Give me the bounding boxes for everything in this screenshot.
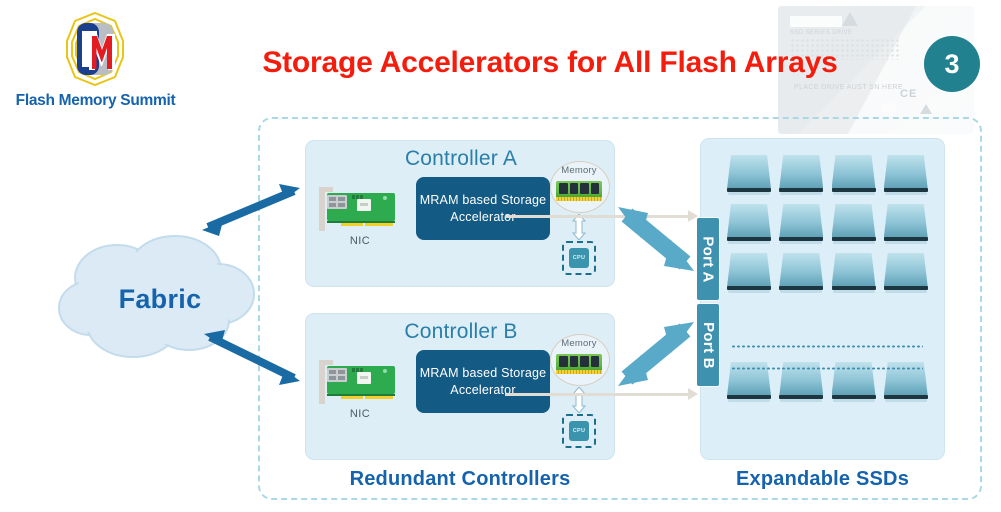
ssd-enclosure [700,138,945,460]
data-path-arrowhead-b [688,388,698,400]
mram-storage-accelerator-b: MRAM based Storage Accelerator [416,350,550,413]
ssd-ellipsis-row [731,367,923,370]
page-number-badge: 3 [924,36,980,92]
slide-canvas: SSD SERIES DRIVE PLACE DRIVE AUST SN HER… [0,0,1001,512]
ssd-drive [884,253,927,293]
memory-label-b: Memory [550,338,608,349]
ssd-drive [832,204,875,244]
cpu-chip-icon-b: CPU [562,414,596,448]
caption-redundant-controllers: Redundant Controllers [300,468,620,491]
port-b-label: Port B [700,322,717,369]
cpu-label-b: CPU [569,421,589,441]
fms-logo-icon [56,10,134,88]
cpu-label-a: CPU [569,248,589,268]
ssd-row [727,204,927,244]
ssd-drive [779,155,822,195]
ssd-drive [884,204,927,244]
memory-label-a: Memory [550,165,608,176]
port-b-tab: Port B [697,304,719,386]
ssd-drive [727,204,770,244]
controller-b-panel: Controller B NIC [305,313,615,460]
ssd-row [727,155,927,195]
ssd-drive [779,253,822,293]
memory-module-b: Memory [550,334,608,384]
ssd-drive [884,155,927,195]
logo-wordmark: Flash Memory Summit [8,92,183,110]
fabric-cloud: Fabric [55,232,265,377]
cpu-chip-icon-a: CPU [562,241,596,275]
ssd-drive [779,204,822,244]
data-path-arrow-a [505,215,690,218]
fabric-label: Fabric [55,284,265,315]
port-a-tab: Port A [697,218,719,300]
nic-card-icon [319,185,401,233]
watermark-ce-mark: CE [900,88,917,100]
memory-module-a: Memory [550,161,608,211]
controller-a-panel: Controller A NIC [305,140,615,287]
flash-memory-summit-logo: Flash Memory Summit [8,8,183,108]
ssd-grid [727,155,927,411]
memory-cpu-link-arrow-b [571,387,587,413]
port-a-label: Port A [700,236,717,282]
watermark-text-small: SSD SERIES DRIVE [790,30,852,36]
caption-expandable-ssds: Expandable SSDs [690,468,955,491]
watermark-text-line1: PLACE DRIVE AUST SN HERE [794,84,903,91]
ssd-ellipsis-row [731,345,923,348]
ssd-drive [832,253,875,293]
ssd-drive [727,155,770,195]
nic-label-a: NIC [306,235,414,247]
ssd-drive [727,253,770,293]
ssd-row [727,253,927,293]
nic-label-b: NIC [306,408,414,420]
data-path-arrow-b [505,393,690,396]
nic-card-icon [319,358,401,406]
mram-storage-accelerator-a: MRAM based Storage Accelerator [416,177,550,240]
ssd-drive [832,155,875,195]
page-title: Storage Accelerators for All Flash Array… [200,46,900,80]
